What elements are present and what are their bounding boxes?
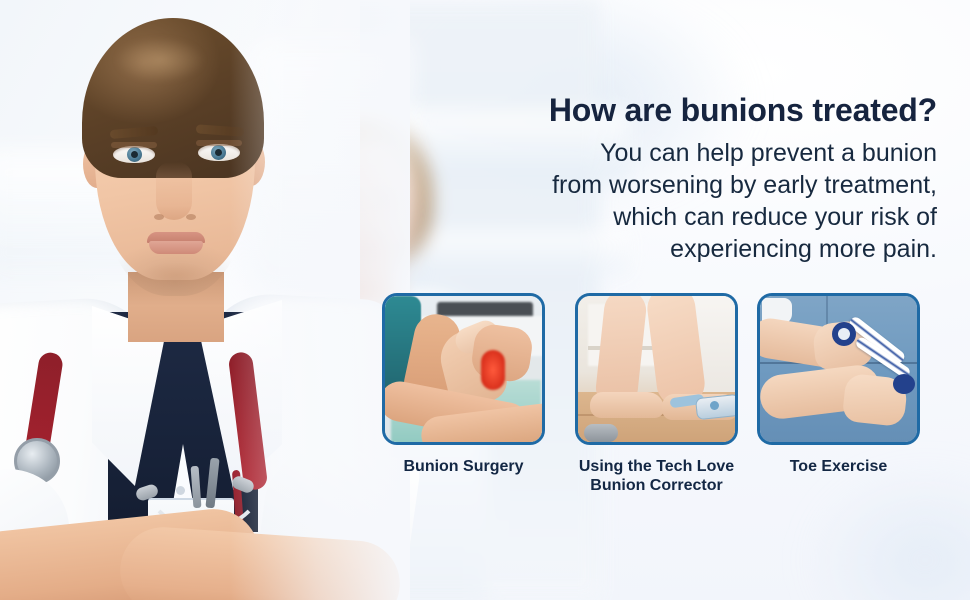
thumbnail-frame bbox=[757, 293, 920, 445]
doctor-nostril-right bbox=[186, 214, 196, 220]
t2-corrector-dial bbox=[710, 401, 719, 410]
thumbnail-caption-line-1: Using the Tech Love bbox=[579, 458, 734, 475]
copy-block: How are bunions treated? You can help pr… bbox=[457, 92, 937, 265]
doctor-lower-lip bbox=[149, 241, 203, 254]
doctor-chin-shadow bbox=[128, 258, 224, 292]
doctor-pupil-left bbox=[131, 151, 138, 158]
toe-exercise-image bbox=[760, 296, 917, 442]
t1-pain-highlight bbox=[481, 350, 505, 390]
thumbnail-caption: Toe Exercise bbox=[735, 457, 942, 476]
thumbnail-toe-exercise[interactable]: Toe Exercise bbox=[757, 293, 920, 445]
t2-slipper bbox=[584, 424, 618, 442]
thumbnail-row: Bunion Surgery bbox=[382, 293, 920, 503]
thumbnail-frame bbox=[575, 293, 738, 445]
body-copy-line-3: which can reduce your risk of bbox=[457, 201, 937, 233]
doctor-eyelid-left bbox=[111, 142, 157, 148]
body-copy-line-4: experiencing more pain. bbox=[457, 233, 937, 265]
doctor-nostril-left bbox=[154, 214, 164, 220]
doctor-eye-left bbox=[113, 146, 155, 163]
body-copy-line-1: You can help prevent a bunion bbox=[457, 137, 937, 169]
page-title: How are bunions treated? bbox=[457, 92, 937, 128]
doctor-pupil-right bbox=[215, 149, 222, 156]
body-copy: You can help prevent a bunion from worse… bbox=[457, 137, 937, 265]
thumbnail-bunion-surgery[interactable]: Bunion Surgery bbox=[382, 293, 545, 445]
t2-foot-back bbox=[590, 392, 664, 418]
t3-stretcher-grip bbox=[893, 374, 915, 394]
thumbnail-caption-line-2: Bunion Corrector bbox=[590, 477, 722, 494]
lab-coat-button bbox=[176, 486, 185, 495]
doctor-nose bbox=[156, 162, 192, 220]
male-doctor-photo bbox=[0, 0, 360, 600]
thumbnail-caption: Bunion Surgery bbox=[360, 457, 567, 476]
body-copy-line-2: from worsening by early treatment, bbox=[457, 169, 937, 201]
thumbnail-caption: Using the Tech Love Bunion Corrector bbox=[553, 457, 760, 495]
bunion-surgery-image bbox=[385, 296, 542, 442]
thumbnail-frame bbox=[382, 293, 545, 445]
bunion-treatment-banner: How are bunions treated? You can help pr… bbox=[0, 0, 970, 600]
thumbnail-bunion-corrector[interactable]: Using the Tech Love Bunion Corrector bbox=[575, 293, 738, 445]
t3-stretcher-loop-inner bbox=[838, 328, 850, 340]
bunion-corrector-image bbox=[578, 296, 735, 442]
